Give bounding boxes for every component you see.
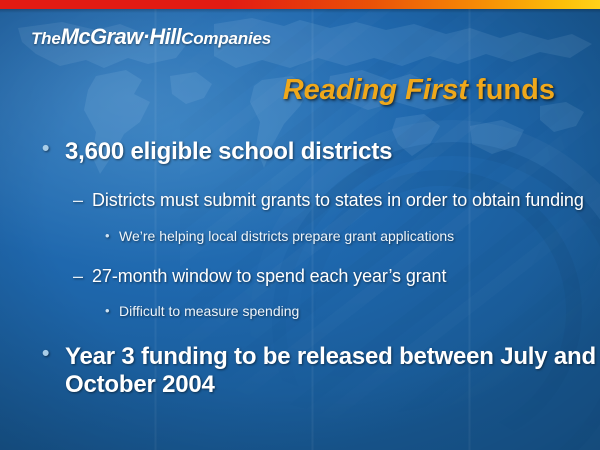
bullet-marker-dot: •	[105, 303, 119, 319]
bullet-level3: • We’re helping local districts prepare …	[0, 228, 600, 246]
spacer	[0, 218, 600, 228]
bullet-level1: • 3,600 eligible school districts	[0, 138, 600, 166]
bullet-text: Year 3 funding to be released between Ju…	[65, 343, 600, 399]
bullet-marker-dash: –	[73, 190, 92, 212]
bullet-marker-dash: –	[73, 266, 92, 288]
slide-title-rest: funds	[468, 74, 555, 106]
bullet-text: 27-month window to spend each year’s gra…	[92, 266, 600, 288]
logo-name: McGraw·Hill	[61, 24, 182, 49]
bullet-text: 3,600 eligible school districts	[65, 138, 600, 166]
logo-the: The	[31, 29, 61, 48]
bullet-text: Districts must submit grants to states i…	[92, 190, 600, 212]
bullet-text: We’re helping local districts prepare gr…	[119, 228, 600, 246]
bullet-level2: – 27-month window to spend each year’s g…	[0, 266, 600, 288]
slide-title-emphasis: Reading First	[283, 74, 468, 106]
top-accent-bar	[0, 0, 600, 9]
bullet-text: Difficult to measure spending	[119, 303, 600, 321]
slide-body: • 3,600 eligible school districts – Dist…	[0, 138, 600, 409]
bullet-marker-dot: •	[42, 343, 65, 365]
bullet-marker-dot: •	[42, 138, 65, 160]
spacer	[0, 176, 600, 190]
logo-companies: Companies	[181, 29, 271, 48]
slide-title: Reading First funds	[283, 74, 555, 107]
spacer	[0, 293, 600, 303]
bullet-level3: • Difficult to measure spending	[0, 303, 600, 321]
presentation-slide: TheMcGraw·HillCompanies Reading First fu…	[0, 0, 600, 450]
mcgraw-hill-logo: TheMcGraw·HillCompanies	[31, 24, 271, 50]
spacer	[0, 252, 600, 266]
top-accent-bar-shadow	[0, 9, 600, 13]
bullet-level1: • Year 3 funding to be released between …	[0, 343, 600, 399]
bullet-level2: – Districts must submit grants to states…	[0, 190, 600, 212]
bullet-marker-dot: •	[105, 228, 119, 244]
